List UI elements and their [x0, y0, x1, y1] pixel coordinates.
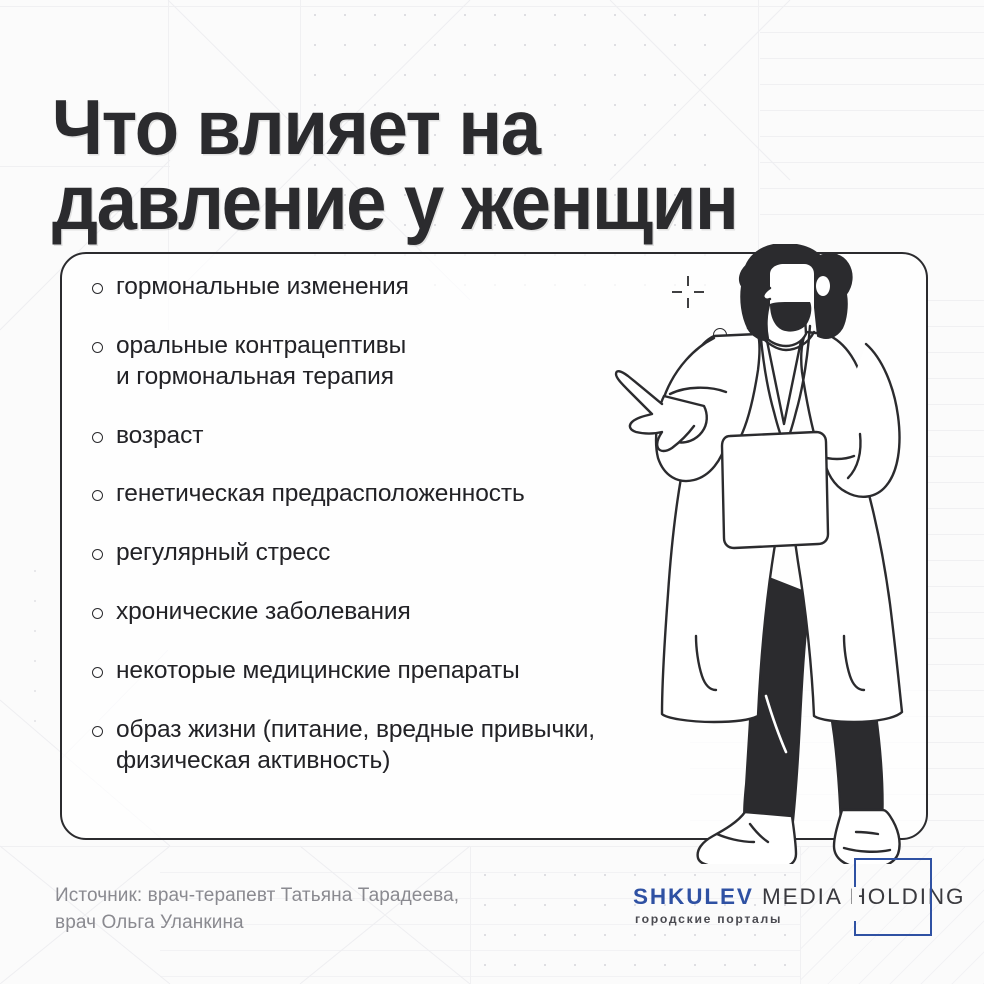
- source-credit: Источник: врач-терапевт Татьяна Тарадеев…: [55, 883, 459, 937]
- rule-top: [0, 6, 984, 7]
- bullet-circle-icon: [92, 608, 103, 619]
- list-item-label: хронические заболевания: [116, 597, 411, 628]
- logo-tagline: городские порталы: [635, 912, 782, 926]
- page-title: Что влияет на давление у женщин: [52, 90, 889, 240]
- bullet-circle-icon: [92, 432, 103, 443]
- bullet-circle-icon: [92, 549, 103, 560]
- infographic-poster: Что влияет на давление у женщин гормонал…: [0, 0, 984, 984]
- title-line-1: Что влияет на: [52, 90, 889, 165]
- title-line-2: давление у женщин: [52, 165, 889, 240]
- list-item-label: некоторые медицинские препараты: [116, 656, 520, 687]
- bullet-circle-icon: [92, 342, 103, 353]
- list-item-label: регулярный стресс: [116, 538, 330, 569]
- logo-square-icon: [854, 858, 932, 936]
- logo-square-gap: [852, 887, 859, 921]
- list-item-label: генетическая предрасположенность: [116, 479, 525, 510]
- bullet-circle-icon: [92, 283, 103, 294]
- doctor-illustration: [614, 244, 974, 864]
- dot-grid-left: [20, 556, 50, 736]
- logo-brand-text: SHKULEV: [633, 884, 754, 909]
- bullet-circle-icon: [92, 490, 103, 501]
- bullet-circle-icon: [92, 726, 103, 737]
- logo-shkulev-media-holding[interactable]: SHKULEV MEDIA HOLDING городские порталы: [633, 876, 943, 946]
- list-item-label: возраст: [116, 421, 203, 452]
- list-item-label: гормональные изменения: [116, 272, 409, 303]
- list-item-label: оральные контрацептивы и гормональная те…: [116, 331, 406, 393]
- list-item-label: образ жизни (питание, вредные привычки, …: [116, 715, 595, 777]
- vrule-e: [470, 846, 471, 984]
- bullet-circle-icon: [92, 667, 103, 678]
